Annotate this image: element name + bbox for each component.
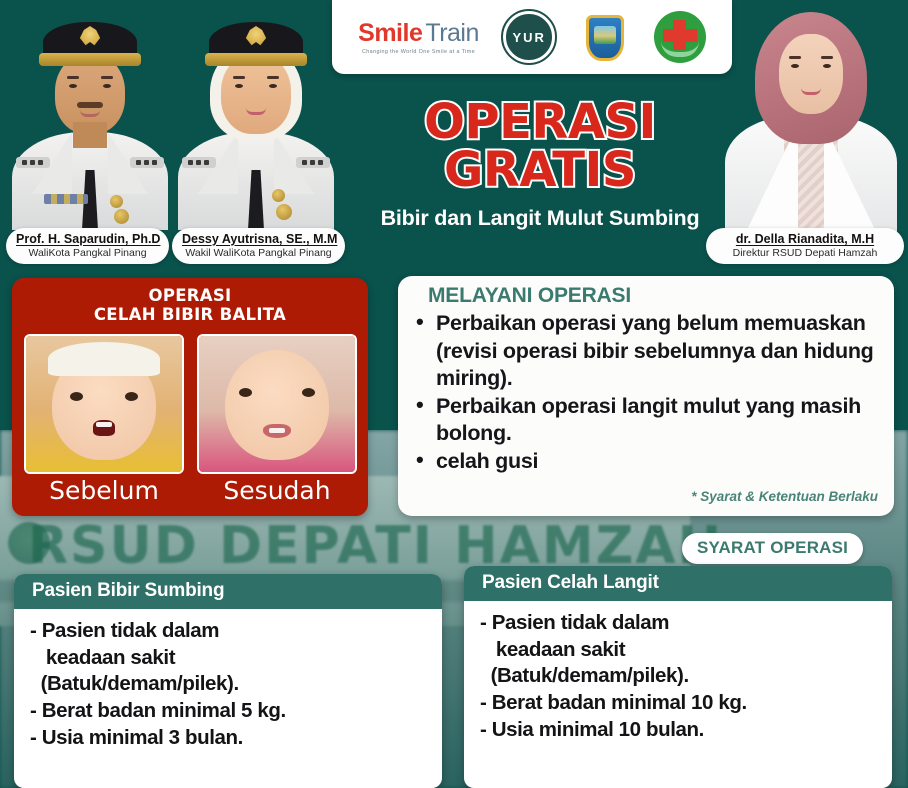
requirement-line: keadaan sakit [480,637,882,664]
nameplate-vice-mayor: Dessy Ayutrisna, SE., M.M Wakil WaliKota… [172,228,345,264]
requirements-card-cleft-lip: Pasien Bibir Sumbing - Pasien tidak dala… [14,574,442,788]
page-subtitle: Bibir dan Langit Mulut Sumbing [338,206,742,231]
baby-eye-left [70,392,83,401]
shoulder-board-left [182,157,216,168]
smile-train-logo: Smile Train Changing the World One Smile… [358,19,479,55]
nameplate-role: Wakil WaliKota Pangkal Pinang [182,247,335,259]
page-title: OPERASI GRATIS [338,98,742,194]
before-after-title-line1: OPERASI [22,286,358,305]
nameplate-name: dr. Della Rianadita, M.H [716,232,894,246]
services-panel: MELAYANI OPERASI Perbaikan operasi yang … [398,276,894,516]
brow-right [101,76,113,79]
eye-right [269,84,277,88]
smile-train-word-train: Train [425,19,479,48]
baby-cap [48,342,160,376]
baby-head [225,350,329,460]
crest-inner [594,26,616,44]
status-badge: SYARAT OPERASI [682,533,863,564]
shoulder-board-right [130,157,164,168]
nameplate-name: Prof. H. Saparudin, Ph.D [16,232,159,246]
brow-left [789,56,801,59]
service-item: Perbaikan operasi langit mulut yang masi… [414,393,880,448]
shoulder-board-left [16,157,50,168]
requirement-line: - Usia minimal 3 bulan. [30,725,432,752]
terms-note: * Syarat & Ketentuan Berlaku [691,489,878,504]
government-crest-icon [580,11,630,63]
requirements-card-body: - Pasien tidak dalam keadaan sakit (Batu… [14,609,442,757]
mouth [80,110,100,117]
requirement-line: - Pasien tidak dalam [30,618,432,645]
requirement-line: - Berat badan minimal 10 kg. [480,690,882,717]
baby-teeth [269,428,285,433]
nameplate-role: Direktur RSUD Depati Hamzah [716,247,894,259]
requirements-card-header: Pasien Bibir Sumbing [14,574,442,609]
requirement-line: - Usia minimal 10 bulan. [480,717,882,744]
requirement-line: (Batuk/demam/pilek). [30,671,432,698]
eye-left [791,64,799,68]
hospital-cross-icon [654,11,706,63]
services-title: MELAYANI OPERASI [428,284,880,308]
requirement-line: keadaan sakit [30,645,432,672]
eye-left [235,84,243,88]
nameplate-name: Dessy Ayutrisna, SE., M.M [182,232,335,246]
label-after: Sesudah [197,476,357,505]
yur-seal-icon: YUR [503,11,555,63]
nameplate-mayor: Prof. H. Saparudin, Ph.D WaliKota Pangka… [6,228,169,264]
requirements-card-cleft-palate: Pasien Celah Langit - Pasien tidak dalam… [464,566,892,788]
baby-photo-before [24,334,184,474]
requirement-line: (Batuk/demam/pilek). [480,663,882,690]
smile-train-tagline: Changing the World One Smile at a Time [362,49,475,55]
baby-eye-left [239,388,252,397]
eye-right [823,64,831,68]
hands-arc [661,41,699,57]
eye-left [69,84,77,88]
smile-train-wordmark: Smile Train [358,19,479,48]
requirement-line: - Berat badan minimal 5 kg. [30,698,432,725]
eye-right [103,84,111,88]
chest-badge-2 [276,204,292,220]
brow-left [67,76,79,79]
nameplate-doctor: dr. Della Rianadita, M.H Direktur RSUD D… [706,228,904,264]
smile-train-word-smile: Smile [358,19,422,48]
shoulder-board-right [296,157,330,168]
baby-eye-right [302,388,315,397]
services-list: Perbaikan operasi yang belum memuaskan (… [414,310,880,475]
chest-badge [272,189,285,202]
requirements-card-header: Pasien Celah Langit [464,566,892,601]
face [221,54,291,134]
before-after-labels: Sebelum Sesudah [24,476,358,505]
before-after-title-line2: CELAH BIBIR BALITA [22,305,358,324]
service-item: celah gusi [414,448,880,476]
before-after-card: OPERASI CELAH BIBIR BALITA Seb [12,278,368,516]
partner-logo-bar: Smile Train Changing the World One Smile… [332,0,732,74]
baby-eye-right [125,392,138,401]
mouth [801,88,821,95]
label-before: Sebelum [24,476,184,505]
before-after-photos [24,334,357,474]
headline-block: OPERASI GRATIS Bibir dan Langit Mulut Su… [338,98,742,231]
portrait-mayor [10,18,170,230]
requirement-line: - Pasien tidak dalam [480,610,882,637]
brow-right [821,56,833,59]
portrait-vice-mayor [176,18,336,230]
medal-ribbons [44,194,88,204]
neck [73,122,107,148]
moustache [77,102,103,108]
brow-right [267,76,279,79]
chest-badge-2 [114,209,129,224]
baby-photo-after [197,334,357,474]
face [779,34,843,114]
service-item: Perbaikan operasi yang belum memuaskan (… [414,310,880,393]
brow-left [233,76,245,79]
portrait-doctor [722,10,900,232]
chest-badge [110,195,123,208]
baby-teeth [96,422,112,427]
nameplate-role: WaliKota Pangkal Pinang [16,247,159,259]
requirements-card-body: - Pasien tidak dalam keadaan sakit (Batu… [464,601,892,749]
poster-root: RSUD DEPATI HAMZAH Smile Train Changing … [0,0,908,788]
mouth [246,108,266,115]
